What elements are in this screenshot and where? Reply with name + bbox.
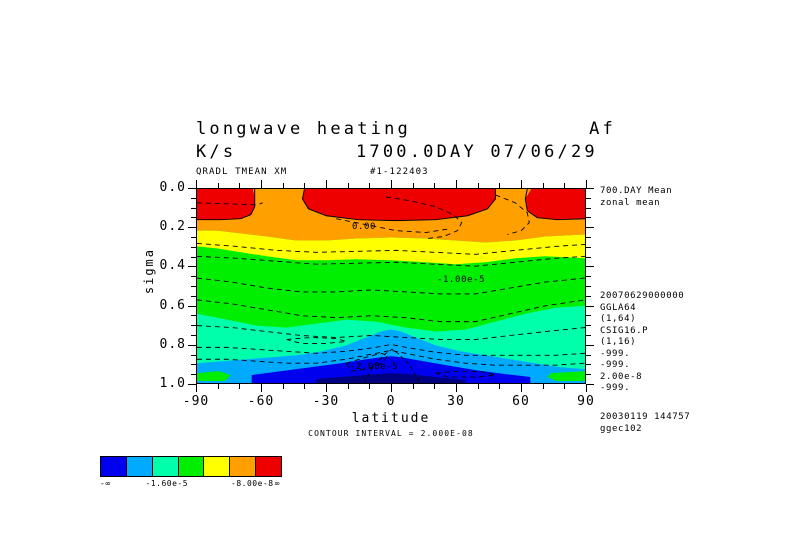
x-minor-tick	[434, 384, 435, 389]
inline-label-text: 0.00	[352, 222, 376, 232]
y-minor-tick	[191, 286, 196, 287]
side-footer-line: 20030119 144757	[600, 412, 690, 424]
x-minor-tick	[369, 384, 370, 389]
x-minor-tick	[543, 384, 544, 389]
side-footer-line: ggec102	[600, 424, 690, 436]
x-tick-label: 60	[491, 394, 551, 409]
y-minor-tick	[191, 217, 196, 218]
y-minor-tick	[191, 208, 196, 209]
y-tick-label: 0.0	[134, 180, 186, 195]
y-minor-tick	[191, 325, 196, 326]
inline-contour-label-1: -1.00e-5	[437, 275, 485, 285]
y-tick-label: 0.6	[134, 298, 186, 313]
x-minor-tick	[564, 384, 565, 389]
x-minor-tick	[478, 384, 479, 389]
y-major-tick-right	[586, 384, 594, 385]
side-meta-line: -999.	[600, 383, 684, 395]
side-meta-line: (1,64)	[600, 314, 684, 326]
run-id: #1-122403	[370, 166, 429, 178]
side-meta-line: (1,16)	[600, 337, 684, 349]
x-minor-tick	[413, 384, 414, 389]
x-major-tick	[391, 384, 392, 392]
y-minor-tick	[191, 355, 196, 356]
contour-plot-area	[196, 188, 586, 384]
x-major-tick	[586, 384, 587, 392]
inline-contour-label-2: -2.00e-5	[350, 362, 398, 372]
x-major-tick-top	[456, 180, 457, 188]
y-major-tick	[188, 188, 196, 189]
y-major-tick	[188, 345, 196, 346]
y-major-tick-right	[586, 266, 594, 267]
side-notes-group-1: 700.DAY Meanzonal mean	[600, 186, 780, 209]
x-major-tick-top	[391, 180, 392, 188]
x-minor-tick	[283, 384, 284, 389]
x-minor-tick	[239, 384, 240, 389]
y-minor-tick-right	[586, 364, 591, 365]
x-tick-label: -90	[166, 394, 226, 409]
side-meta-line: 2.00e-8	[600, 372, 684, 384]
colorbar-swatches	[100, 456, 282, 477]
x-minor-tick-top	[478, 183, 479, 188]
colorbar-cell	[101, 457, 127, 476]
y-minor-tick	[191, 276, 196, 277]
x-major-tick-top	[196, 180, 197, 188]
x-major-tick-top	[261, 180, 262, 188]
colorbar-cell	[230, 457, 256, 476]
x-major-tick	[326, 384, 327, 392]
y-minor-tick-right	[586, 208, 591, 209]
y-tick-label: 0.2	[134, 219, 186, 234]
y-minor-tick	[191, 247, 196, 248]
colorbar-label: -1.60e-5	[146, 479, 189, 488]
colorbar-cell	[256, 457, 281, 476]
title-block: longwave heating Af K/s 1700.0DAY 07/06/…	[196, 118, 616, 178]
x-major-tick-top	[586, 180, 587, 188]
x-major-tick	[456, 384, 457, 392]
x-minor-tick	[499, 384, 500, 389]
side-note-line: 700.DAY Mean	[600, 186, 780, 198]
x-minor-tick-top	[543, 183, 544, 188]
inline-contour-label-0: 0.00	[352, 222, 376, 232]
colorbar-tick-labels: -∞-1.60e-5-8.00e-8∞	[100, 477, 282, 491]
colorbar-cell	[179, 457, 205, 476]
y-minor-tick-right	[586, 325, 591, 326]
x-minor-tick	[304, 384, 305, 389]
page-title: longwave heating	[196, 118, 411, 140]
y-major-tick-right	[586, 306, 594, 307]
y-major-tick-right	[586, 227, 594, 228]
y-major-tick	[188, 384, 196, 385]
y-minor-tick-right	[586, 335, 591, 336]
y-minor-tick-right	[586, 355, 591, 356]
y-minor-tick	[191, 374, 196, 375]
y-minor-tick-right	[586, 286, 591, 287]
x-minor-tick-top	[218, 183, 219, 188]
y-minor-tick	[191, 364, 196, 365]
y-tick-label: 1.0	[134, 376, 186, 391]
x-tick-label: 0	[361, 394, 421, 409]
x-minor-tick-top	[369, 183, 370, 188]
y-minor-tick	[191, 198, 196, 199]
y-major-tick	[188, 227, 196, 228]
x-minor-tick	[348, 384, 349, 389]
variable-code: QRADL TMEAN XM	[196, 166, 370, 178]
y-minor-tick-right	[586, 217, 591, 218]
x-minor-tick-top	[239, 183, 240, 188]
x-major-tick-top	[521, 180, 522, 188]
y-minor-tick	[191, 296, 196, 297]
side-notes-group-2: 20070629000000GGLA64(1,64)CSIG16.P(1,16)…	[600, 291, 684, 395]
y-minor-tick	[191, 237, 196, 238]
y-major-tick	[188, 266, 196, 267]
side-meta-line: CSIG16.P	[600, 326, 684, 338]
units-label: K/s	[196, 140, 356, 164]
y-minor-tick-right	[586, 198, 591, 199]
x-axis-title: latitude	[196, 411, 586, 426]
y-minor-tick	[191, 335, 196, 336]
x-major-tick-top	[326, 180, 327, 188]
x-minor-tick-top	[499, 183, 500, 188]
x-minor-tick-top	[564, 183, 565, 188]
inline-label-text: -2.00e-5	[350, 362, 398, 372]
y-major-tick	[188, 306, 196, 307]
x-minor-tick	[218, 384, 219, 389]
y-minor-tick-right	[586, 237, 591, 238]
x-tick-label: 30	[426, 394, 486, 409]
x-minor-tick-top	[304, 183, 305, 188]
y-minor-tick-right	[586, 276, 591, 277]
timestamp-label: 1700.0DAY 07/06/29	[356, 140, 598, 164]
inline-label-text: -1.00e-5	[437, 275, 485, 285]
side-meta-line: 20070629000000	[600, 291, 684, 303]
title-row: longwave heating Af	[196, 118, 616, 140]
colorbar-cell	[127, 457, 153, 476]
x-minor-tick-top	[283, 183, 284, 188]
side-notes-group-3: 20030119 144757ggec102	[600, 412, 690, 435]
contour-plot-svg	[197, 189, 585, 383]
x-tick-label: -60	[231, 394, 291, 409]
y-minor-tick	[191, 257, 196, 258]
y-tick-label: 0.4	[134, 258, 186, 273]
colorbar-legend: -∞-1.60e-5-8.00e-8∞	[100, 456, 282, 491]
colorbar-label: -8.00e-8	[231, 479, 274, 488]
y-minor-tick-right	[586, 374, 591, 375]
colorbar-label: -∞	[100, 479, 111, 488]
contour-interval-note: CONTOUR INTERVAL = 2.000E-08	[196, 429, 586, 438]
x-minor-tick-top	[434, 183, 435, 188]
x-tick-label: 90	[556, 394, 616, 409]
x-minor-tick-top	[413, 183, 414, 188]
x-minor-tick-top	[348, 183, 349, 188]
y-tick-label: 0.8	[134, 337, 186, 352]
units-row: K/s 1700.0DAY 07/06/29	[196, 140, 616, 164]
x-major-tick	[261, 384, 262, 392]
x-major-tick	[521, 384, 522, 392]
corner-code: Af	[589, 118, 616, 140]
side-meta-line: GGLA64	[600, 303, 684, 315]
side-note-line: zonal mean	[600, 198, 780, 210]
y-minor-tick-right	[586, 296, 591, 297]
colorbar-cell	[153, 457, 179, 476]
side-meta-line: -999.	[600, 360, 684, 372]
subheader-row: QRADL TMEAN XM #1-122403	[196, 166, 616, 178]
y-minor-tick-right	[586, 247, 591, 248]
y-minor-tick-right	[586, 257, 591, 258]
colorbar-label: ∞	[275, 479, 280, 488]
y-minor-tick-right	[586, 315, 591, 316]
x-tick-label: -30	[296, 394, 356, 409]
x-major-tick	[196, 384, 197, 392]
y-minor-tick	[191, 315, 196, 316]
y-major-tick-right	[586, 345, 594, 346]
side-meta-line: -999.	[600, 349, 684, 361]
colorbar-cell	[204, 457, 230, 476]
y-major-tick-right	[586, 188, 594, 189]
